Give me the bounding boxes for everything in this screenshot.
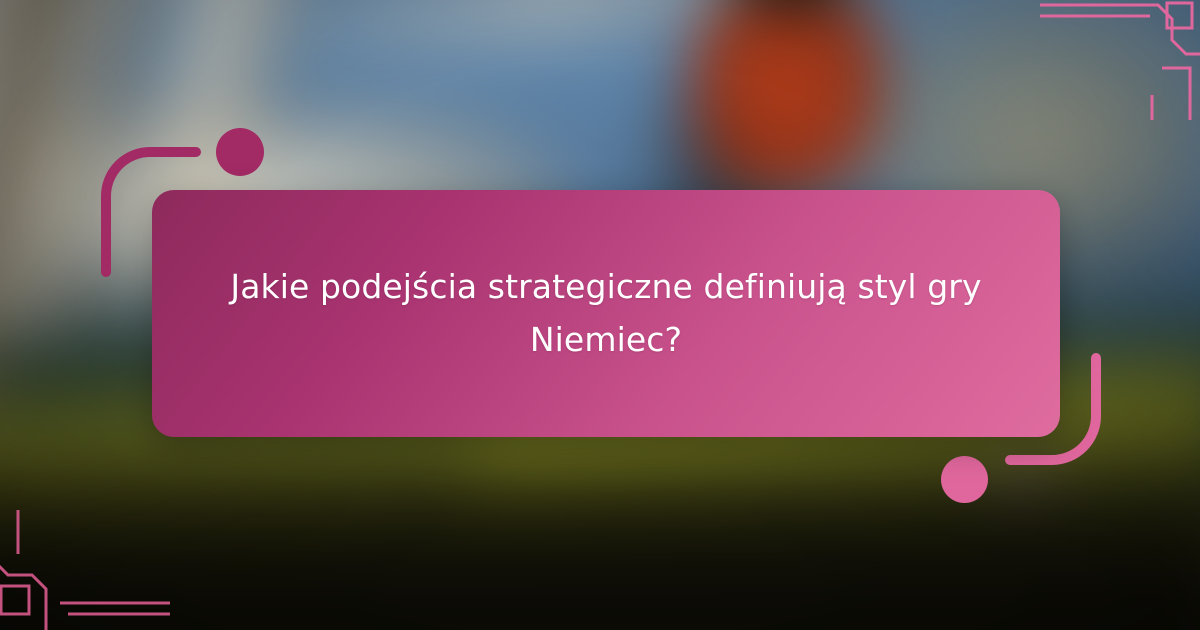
circuit-corner-bottom-left-icon [0,510,170,630]
accent-dot-bottom-right [941,456,988,503]
circuit-corner-top-right-icon [1040,0,1200,120]
question-card: Jakie podejścia strategiczne definiują s… [152,190,1060,437]
question-text: Jakie podejścia strategiczne definiują s… [216,261,996,365]
accent-dot-top-left [216,128,264,176]
social-card-stage: Jakie podejścia strategiczne definiują s… [0,0,1200,630]
